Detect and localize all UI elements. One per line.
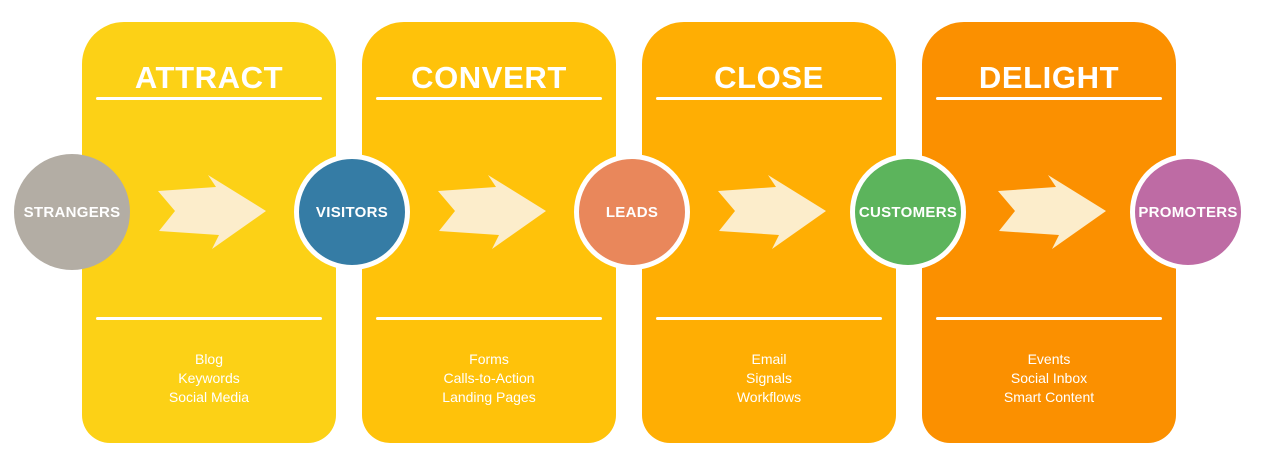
stage-item: Social Media	[82, 388, 336, 407]
arrow-customers-to-promoters-icon	[996, 173, 1108, 251]
stage-item: Forms	[362, 350, 616, 369]
stage-node-label: LEADS	[606, 204, 658, 221]
stage-title-attract: ATTRACT	[82, 62, 336, 93]
stage-item: Smart Content	[922, 388, 1176, 407]
stage-node-label: CUSTOMERS	[859, 204, 957, 221]
divider-bottom	[376, 317, 602, 320]
stage-item: Calls-to-Action	[362, 369, 616, 388]
arrow-visitors-to-leads-icon	[436, 173, 548, 251]
stage-item: Blog	[82, 350, 336, 369]
stage-node-label: STRANGERS	[24, 204, 121, 221]
stage-items-close: Email Signals Workflows	[642, 350, 896, 407]
divider-top	[96, 97, 322, 100]
stage-item: Landing Pages	[362, 388, 616, 407]
stage-items-attract: Blog Keywords Social Media	[82, 350, 336, 407]
divider-bottom	[656, 317, 882, 320]
stage-items-convert: Forms Calls-to-Action Landing Pages	[362, 350, 616, 407]
stage-node-label: VISITORS	[316, 204, 388, 221]
stage-items-delight: Events Social Inbox Smart Content	[922, 350, 1176, 407]
stage-title-close: CLOSE	[642, 62, 896, 93]
stage-item: Keywords	[82, 369, 336, 388]
stage-node-strangers[interactable]: STRANGERS	[14, 154, 130, 270]
stage-item: Events	[922, 350, 1176, 369]
divider-top	[656, 97, 882, 100]
divider-top	[936, 97, 1162, 100]
stage-node-customers[interactable]: CUSTOMERS	[850, 154, 966, 270]
stage-item: Email	[642, 350, 896, 369]
stage-item: Workflows	[642, 388, 896, 407]
arrow-strangers-to-visitors-icon	[156, 173, 268, 251]
divider-top	[376, 97, 602, 100]
stage-item: Signals	[642, 369, 896, 388]
stage-node-leads[interactable]: LEADS	[574, 154, 690, 270]
stage-item: Social Inbox	[922, 369, 1176, 388]
divider-bottom	[936, 317, 1162, 320]
stage-node-promoters[interactable]: PROMOTERS	[1130, 154, 1246, 270]
divider-bottom	[96, 317, 322, 320]
stage-title-delight: DELIGHT	[922, 62, 1176, 93]
stage-title-convert: CONVERT	[362, 62, 616, 93]
stage-node-visitors[interactable]: VISITORS	[294, 154, 410, 270]
arrow-leads-to-customers-icon	[716, 173, 828, 251]
inbound-methodology-diagram: ATTRACT Blog Keywords Social Media CONVE…	[0, 0, 1261, 458]
stage-node-label: PROMOTERS	[1138, 204, 1237, 221]
